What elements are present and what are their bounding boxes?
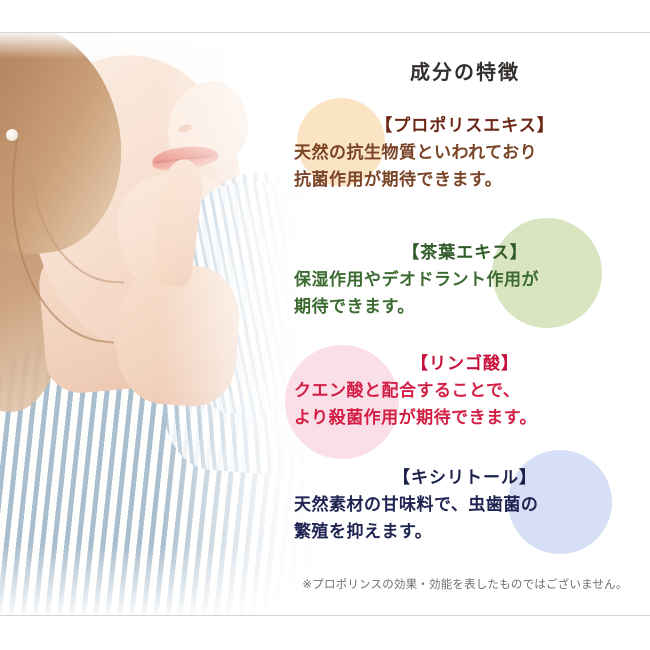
page-title: 成分の特徴 <box>280 56 650 85</box>
ingredient-body-line: 期待できます。 <box>294 293 650 321</box>
ingredient-body: クエン酸と配合することで、 より殺菌作用が期待できます。 <box>280 377 650 432</box>
bottom-divider-rule <box>0 615 650 616</box>
ingredient-block-malic-acid: 【リンゴ酸】 クエン酸と配合することで、 より殺菌作用が期待できます。 <box>280 351 650 432</box>
ingredient-body: 天然の抗生物質といわれており 抗菌作用が期待できます。 <box>280 139 650 194</box>
product-ingredient-panel: 成分の特徴 【プロポリスエキス】 天然の抗生物質といわれており 抗菌作用が期待で… <box>0 0 650 650</box>
ingredient-body-line: 天然の抗生物質といわれており <box>294 139 650 167</box>
ingredient-block-xylitol: 【キシリトール】 天然素材の甘味料で、虫歯菌の 繁殖を抑えます。 <box>280 465 650 546</box>
ingredient-body: 天然素材の甘味料で、虫歯菌の 繁殖を抑えます。 <box>280 491 650 546</box>
disclaimer-footnote: ※プロポリンスの効果・効能を表したものではございません。 <box>280 576 650 592</box>
content-panel: 成分の特徴 【プロポリスエキス】 天然の抗生物質といわれており 抗菌作用が期待で… <box>280 33 650 615</box>
ingredient-block-tea-leaf: 【茶葉エキス】 保湿作用やデオドラント作用が 期待できます。 <box>280 240 650 321</box>
ingredient-heading: 【キシリトール】 <box>280 465 650 491</box>
ingredient-body-line: 抗菌作用が期待できます。 <box>294 166 650 194</box>
ingredient-body-line: より殺菌作用が期待できます。 <box>294 404 650 432</box>
ingredient-heading: 【リンゴ酸】 <box>280 351 650 377</box>
ingredient-body: 保湿作用やデオドラント作用が 期待できます。 <box>280 266 650 321</box>
ingredient-body-line: 繁殖を抑えます。 <box>294 518 650 546</box>
ingredient-block-propolis: 【プロポリスエキス】 天然の抗生物質といわれており 抗菌作用が期待できます。 <box>280 113 650 194</box>
ingredient-heading: 【プロポリスエキス】 <box>280 113 650 139</box>
ingredient-body-line: 保湿作用やデオドラント作用が <box>294 266 650 294</box>
ingredient-body-line: クエン酸と配合することで、 <box>294 377 650 405</box>
ingredient-body-line: 天然素材の甘味料で、虫歯菌の <box>294 491 650 519</box>
earring-icon <box>6 129 18 141</box>
ingredient-heading: 【茶葉エキス】 <box>280 240 650 266</box>
